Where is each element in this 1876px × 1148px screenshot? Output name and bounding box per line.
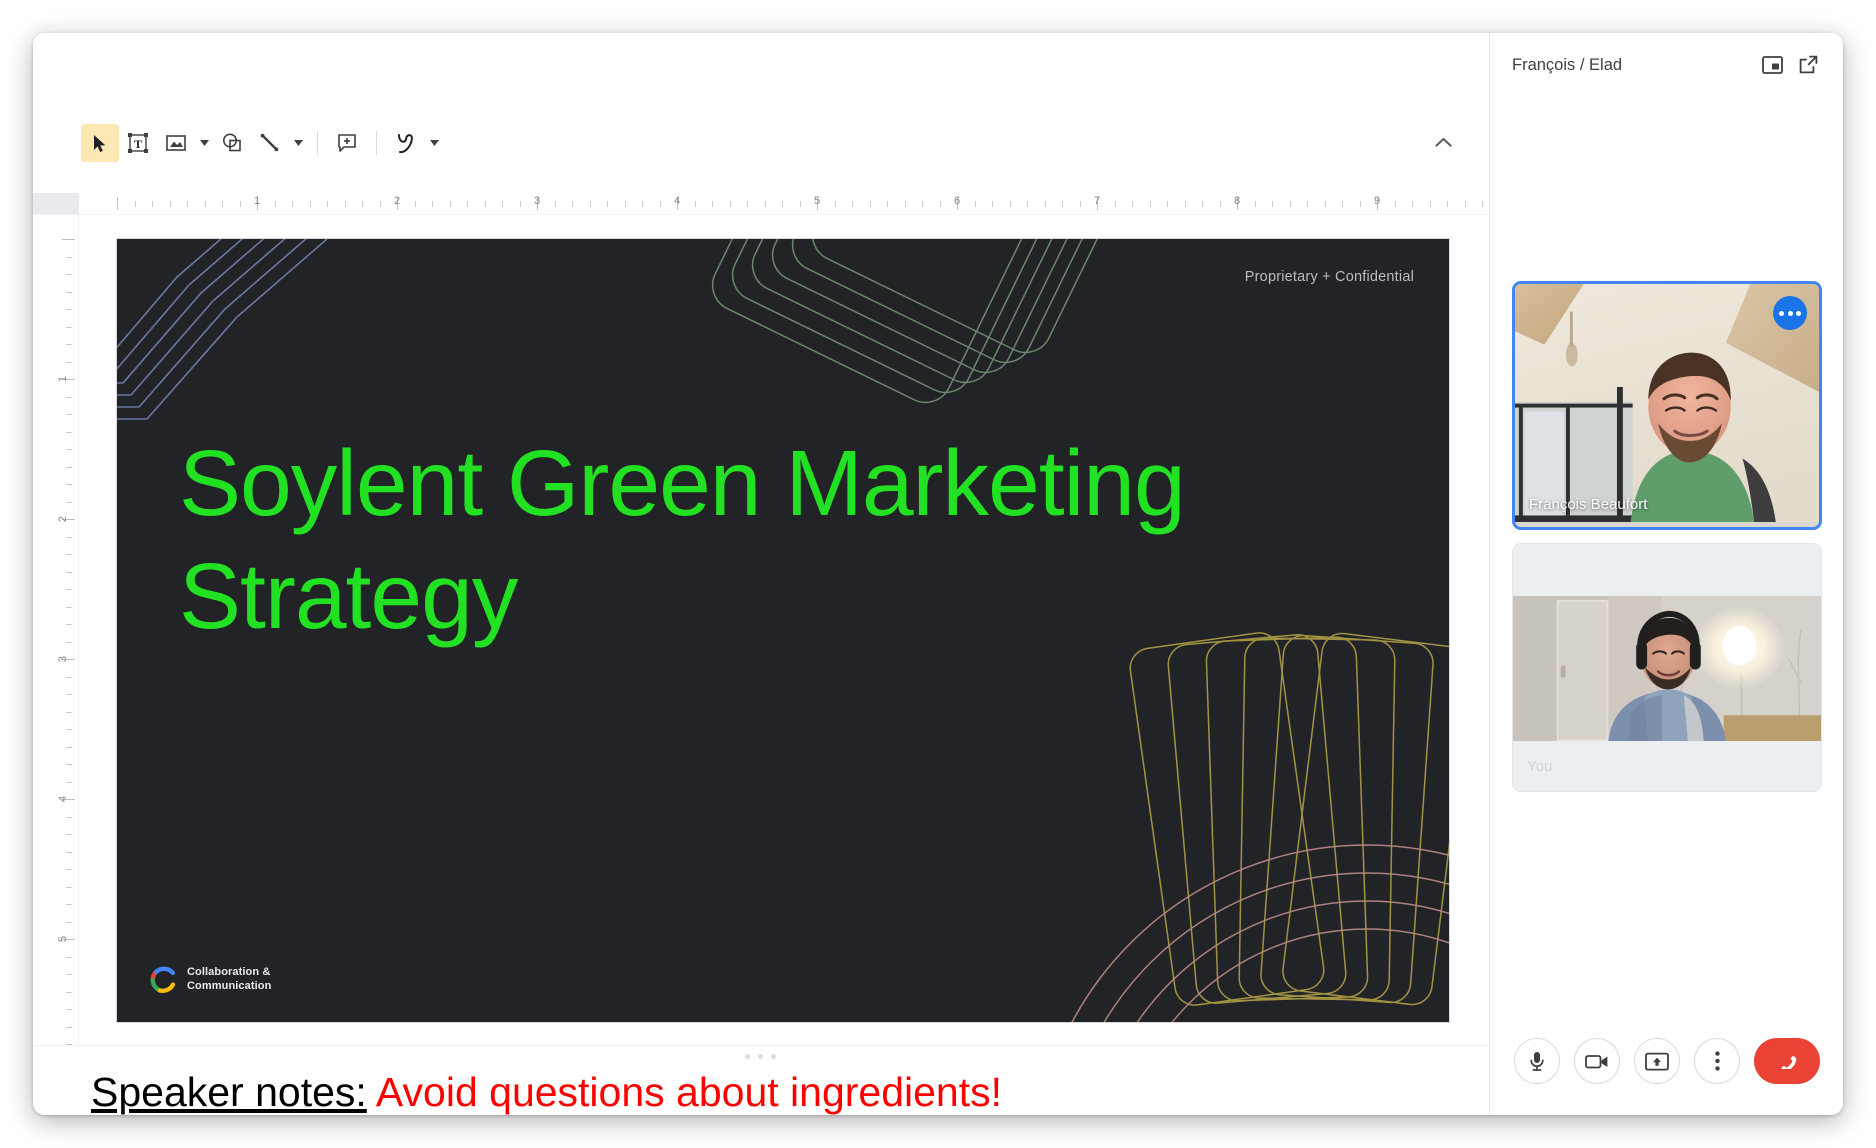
participant-video-francois [1515, 284, 1819, 522]
handle-dot [745, 1054, 750, 1059]
hangup-button[interactable] [1754, 1038, 1820, 1084]
pen-tool-button[interactable] [387, 124, 425, 162]
ruler-tick [870, 201, 871, 207]
meet-call-controls [1490, 1033, 1843, 1089]
ruler-number: 1 [57, 376, 69, 382]
ruler-tick [730, 201, 731, 207]
slide-logo: Collaboration & Communication [149, 965, 271, 994]
ruler-tick [467, 201, 468, 207]
ruler-tick [66, 782, 72, 783]
ruler-tick [66, 397, 72, 398]
ruler-number: 5 [57, 936, 69, 942]
ruler-tick [485, 201, 486, 207]
ruler-number: 6 [954, 195, 960, 207]
ruler-tick [625, 201, 626, 207]
ruler-tick [800, 201, 801, 207]
ruler-tick [66, 817, 72, 818]
ruler-tick [747, 201, 748, 207]
ruler-tick [66, 362, 72, 363]
ruler-tick [607, 201, 608, 207]
comment-tool-button[interactable] [328, 124, 366, 162]
participant-tile-you[interactable]: You [1512, 543, 1822, 792]
ruler-tick [1202, 201, 1203, 207]
slide-logo-text: Collaboration & Communication [187, 966, 271, 994]
slides-editor-pane: T [33, 33, 1488, 1115]
ruler-tick [1132, 201, 1133, 207]
participant-name-label: You [1527, 758, 1552, 775]
ruler-tick [922, 201, 923, 207]
ruler-tick [1045, 201, 1046, 207]
ruler-tick [66, 274, 72, 275]
ruler-tick [1220, 201, 1221, 207]
ruler-tick [345, 201, 346, 207]
ruler-tick [1447, 201, 1448, 207]
ruler-number: 3 [57, 656, 69, 662]
ruler-tick [940, 201, 941, 207]
slide-surface[interactable]: Proprietary + Confidential Soylent Green… [117, 239, 1449, 1022]
ruler-number: 9 [1374, 195, 1380, 207]
microphone-button[interactable] [1514, 1038, 1560, 1084]
ruler-tick [1325, 201, 1326, 207]
toolbar-divider-2 [376, 131, 377, 155]
ruler-tick [1360, 201, 1361, 207]
ruler-tick [992, 201, 993, 207]
ruler-tick [520, 201, 521, 207]
ruler-tick [66, 764, 72, 765]
select-tool-button[interactable] [81, 124, 119, 162]
ruler-tick [590, 201, 591, 207]
ruler-tick [660, 201, 661, 207]
ruler-tick [1290, 201, 1291, 207]
ruler-tick [292, 201, 293, 207]
shape-tool-button[interactable] [213, 124, 251, 162]
ruler-tick [572, 201, 573, 207]
ruler-tick [66, 834, 72, 835]
ruler-tick [66, 1027, 72, 1028]
ruler-tick [66, 327, 72, 328]
horizontal-ruler-scale: 123456789 [79, 193, 1488, 215]
ruler-tick [66, 554, 72, 555]
more-dot [1779, 311, 1784, 316]
ruler-tick [1272, 201, 1273, 207]
ruler-tick [502, 201, 503, 207]
ruler-tick [135, 201, 136, 207]
ruler-tick [852, 201, 853, 207]
notes-resize-handle[interactable] [33, 1045, 1488, 1067]
slide-title[interactable]: Soylent Green Marketing Strategy [179, 427, 1239, 654]
ruler-tick [432, 201, 433, 207]
ruler-tick [695, 201, 696, 207]
ruler-tick [66, 624, 72, 625]
ruler-tick [62, 239, 75, 240]
ruler-tick [782, 201, 783, 207]
ruler-tick [887, 201, 888, 207]
ruler-tick [66, 309, 72, 310]
ruler-tick [66, 712, 72, 713]
ruler-tick [205, 201, 206, 207]
toolbar-divider-1 [317, 131, 318, 155]
picture-in-picture-icon[interactable] [1754, 47, 1790, 83]
ruler-tick [222, 201, 223, 207]
ruler-tick [275, 201, 276, 207]
ruler-tick [1307, 201, 1308, 207]
tile-more-options-button[interactable] [1773, 296, 1807, 330]
pen-tool-dropdown[interactable] [425, 124, 443, 162]
handle-dot [758, 1054, 763, 1059]
ruler-number: 2 [57, 516, 69, 522]
ruler-tick [187, 201, 188, 207]
horizontal-ruler[interactable]: 123456789 [33, 193, 1488, 215]
text-box-tool-button[interactable]: T [119, 124, 157, 162]
ruler-tick [66, 747, 72, 748]
ruler-tick [310, 201, 311, 207]
ruler-tick [450, 201, 451, 207]
ruler-tick [66, 292, 72, 293]
present-button[interactable] [1634, 1038, 1680, 1084]
ruler-tick [170, 201, 171, 207]
meet-panel-header: François / Elad [1490, 33, 1843, 97]
ruler-tick [66, 572, 72, 573]
ruler-tick [66, 852, 72, 853]
ruler-tick [1080, 201, 1081, 207]
ruler-tick [66, 502, 72, 503]
ruler-number: 4 [674, 195, 680, 207]
ruler-tick [905, 201, 906, 207]
slide-logo-line-2: Communication [187, 980, 271, 994]
app-window: T [33, 33, 1843, 1115]
ruler-tick [66, 257, 72, 258]
ruler-tick [1185, 201, 1186, 207]
ruler-tick [66, 484, 72, 485]
ruler-tick [66, 992, 72, 993]
slide-confidentiality-label: Proprietary + Confidential [1245, 269, 1414, 285]
ruler-tick [1027, 201, 1028, 207]
ruler-tick [415, 201, 416, 207]
participant-tile-francois[interactable]: François Beaufort [1512, 281, 1822, 530]
ruler-tick [66, 449, 72, 450]
ruler-tick [712, 201, 713, 207]
ruler-tick [835, 201, 836, 207]
google-meet-side-panel: François / Elad [1489, 33, 1843, 1115]
ruler-tick [555, 201, 556, 207]
ruler-tick [66, 729, 72, 730]
ruler-tick [1115, 201, 1116, 207]
line-tool-button[interactable] [251, 124, 289, 162]
more-dot [1788, 311, 1793, 316]
ruler-tick [66, 904, 72, 905]
ruler-tick [66, 922, 72, 923]
image-tool-dropdown[interactable] [195, 124, 213, 162]
ruler-tick [66, 607, 72, 608]
speaker-notes-text[interactable]: Avoid questions about ingredients! [367, 1069, 1002, 1115]
ruler-tick [1465, 201, 1466, 207]
slides-toolbar: T [33, 115, 1488, 171]
ruler-number: 5 [814, 195, 820, 207]
ruler-tick [1255, 201, 1256, 207]
ruler-tick [1150, 201, 1151, 207]
ruler-tick [66, 589, 72, 590]
ruler-tick [1062, 201, 1063, 207]
svg-text:T: T [134, 137, 142, 151]
ruler-tick [327, 201, 328, 207]
ruler-tick [1010, 201, 1011, 207]
ruler-tick [152, 201, 153, 207]
ruler-tick [1430, 201, 1431, 207]
ruler-tick [975, 201, 976, 207]
ruler-tick [66, 642, 72, 643]
line-tool-dropdown[interactable] [289, 124, 307, 162]
ruler-tick [1167, 201, 1168, 207]
ruler-tick [66, 432, 72, 433]
ruler-tick [362, 201, 363, 207]
more-options-button[interactable] [1694, 1038, 1740, 1084]
ruler-number: 2 [394, 195, 400, 207]
ruler-tick [1412, 201, 1413, 207]
vertical-ruler[interactable]: 12345 [57, 215, 79, 1045]
ruler-number: 7 [1094, 195, 1100, 207]
image-tool-button[interactable] [157, 124, 195, 162]
ruler-tick [240, 201, 241, 207]
ruler-number: 8 [1234, 195, 1240, 207]
ruler-tick [66, 344, 72, 345]
meet-call-title: François / Elad [1512, 56, 1754, 75]
speaker-notes-area[interactable]: Speaker notes: Avoid questions about ing… [33, 1067, 1488, 1115]
camera-button[interactable] [1574, 1038, 1620, 1084]
ruler-tick [765, 201, 766, 207]
ruler-tick [66, 957, 72, 958]
slide-canvas-area[interactable]: Proprietary + Confidential Soylent Green… [79, 215, 1488, 1045]
ruler-tick [66, 467, 72, 468]
ruler-number: 4 [57, 796, 69, 802]
ruler-tick [66, 887, 72, 888]
ruler-tick [1342, 201, 1343, 207]
participant-video-you [1513, 596, 1821, 741]
ruler-tick [66, 974, 72, 975]
handle-dot [771, 1054, 776, 1059]
open-in-new-icon[interactable] [1790, 47, 1826, 83]
ruler-tick [66, 694, 72, 695]
participant-name-label: François Beaufort [1529, 496, 1647, 513]
ruler-tick [117, 197, 118, 210]
ruler-number: 3 [534, 195, 540, 207]
collapse-toolbar-button[interactable] [1426, 125, 1460, 159]
speaker-notes-label: Speaker notes: [91, 1069, 367, 1115]
ruler-tick [380, 201, 381, 207]
ruler-tick [66, 869, 72, 870]
ruler-tick [66, 414, 72, 415]
slide-logo-line-1: Collaboration & [187, 966, 271, 980]
ruler-tick [1395, 201, 1396, 207]
ruler-number: 1 [254, 195, 260, 207]
ruler-tick [1482, 201, 1483, 207]
ruler-tick [66, 677, 72, 678]
ruler-tick [66, 1009, 72, 1010]
more-dot [1796, 311, 1801, 316]
ruler-tick [642, 201, 643, 207]
ruler-corner [33, 193, 79, 215]
ruler-tick [66, 537, 72, 538]
google-c-logo-icon [149, 965, 178, 994]
